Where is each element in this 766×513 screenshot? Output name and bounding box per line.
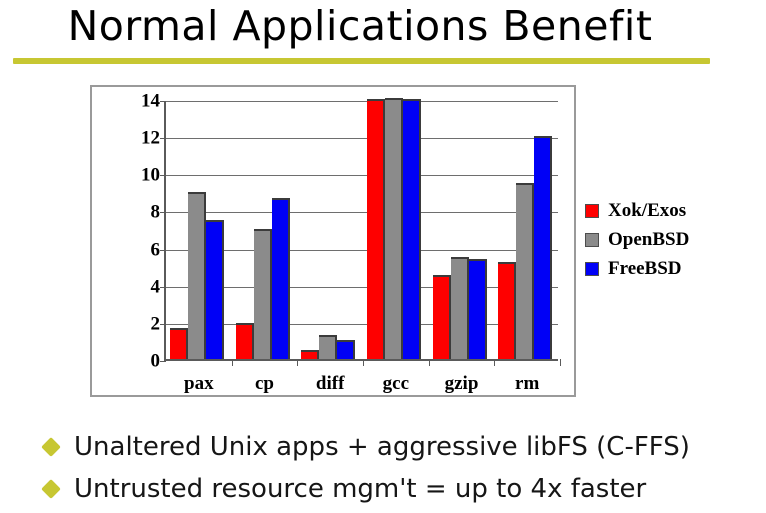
gridline — [166, 175, 558, 176]
y-axis-tick-mark — [160, 175, 166, 176]
x-axis-label-rm: rm — [515, 373, 539, 395]
bullet-list: Unaltered Unix apps + aggressive libFS (… — [44, 426, 764, 510]
y-axis-tick-label: 6 — [151, 240, 161, 259]
bar-gzip-openbsd — [451, 257, 469, 359]
bar-pax-openbsd — [188, 192, 206, 359]
legend-swatch-icon — [585, 262, 599, 276]
gridline — [166, 138, 558, 139]
bar-gzip-xok-exos — [433, 275, 451, 360]
bar-pax-freebsd — [206, 220, 224, 359]
page-title: Normal Applications Benefit — [0, 2, 720, 50]
x-axis-label-cp: cp — [255, 373, 274, 395]
legend-item-xok-exos: Xok/Exos — [585, 196, 689, 225]
bar-rm-xok-exos — [498, 262, 516, 359]
title-underline-rule — [13, 58, 710, 64]
y-axis-tick-mark — [160, 138, 166, 139]
y-axis-tick-label: 12 — [141, 129, 160, 148]
y-axis-tick-mark — [160, 101, 166, 102]
chart-legend: Xok/ExosOpenBSDFreeBSD — [585, 196, 689, 283]
bar-rm-openbsd — [516, 183, 534, 359]
x-axis-tick-mark — [560, 359, 561, 366]
diamond-bullet-icon — [41, 479, 61, 499]
y-axis-tick-mark — [160, 361, 166, 362]
gridline — [166, 250, 558, 251]
y-axis-tick-label: 0 — [151, 352, 161, 371]
bullet-text: Unaltered Unix apps + aggressive libFS (… — [74, 432, 690, 462]
gridline — [166, 101, 558, 102]
y-axis-tick-label: 4 — [151, 277, 161, 296]
y-axis-tick-label: 8 — [151, 203, 161, 222]
legend-label: Xok/Exos — [608, 200, 686, 222]
y-axis-tick-mark — [160, 250, 166, 251]
y-axis-tick-label: 14 — [141, 92, 160, 111]
legend-swatch-icon — [585, 233, 599, 247]
bullet-item-2: Untrusted resource mgm't = up to 4x fast… — [44, 468, 764, 510]
x-axis-tick-mark — [232, 359, 233, 366]
y-axis-tick-mark — [160, 324, 166, 325]
y-axis-tick-mark — [160, 287, 166, 288]
bar-rm-freebsd — [534, 136, 552, 359]
bar-cp-xok-exos — [236, 323, 254, 359]
bar-gcc-openbsd — [385, 98, 403, 359]
x-axis-label-gzip: gzip — [445, 373, 479, 395]
gridline — [166, 212, 558, 213]
bullet-item-1: Unaltered Unix apps + aggressive libFS (… — [44, 426, 764, 468]
legend-swatch-icon — [585, 204, 599, 218]
bar-gzip-freebsd — [469, 259, 487, 359]
y-axis-tick-mark — [160, 212, 166, 213]
bar-cp-freebsd — [272, 198, 290, 359]
x-axis-label-gcc: gcc — [383, 373, 409, 395]
bar-pax-xok-exos — [170, 328, 188, 359]
bar-gcc-xok-exos — [367, 99, 385, 359]
bullet-text: Untrusted resource mgm't = up to 4x fast… — [74, 474, 646, 504]
x-axis-tick-mark — [363, 359, 364, 366]
legend-item-freebsd: FreeBSD — [585, 254, 689, 283]
legend-label: OpenBSD — [608, 229, 689, 251]
legend-label: FreeBSD — [608, 258, 682, 280]
x-axis-tick-mark — [297, 359, 298, 366]
bar-cp-openbsd — [254, 229, 272, 359]
x-axis-tick-mark — [494, 359, 495, 366]
legend-item-openbsd: OpenBSD — [585, 225, 689, 254]
x-axis-label-diff: diff — [316, 373, 345, 395]
plot-area: 02468101214paxcpdiffgccgziprm — [164, 101, 558, 361]
bar-diff-xok-exos — [301, 350, 319, 359]
y-axis-tick-label: 10 — [141, 166, 160, 185]
bar-diff-freebsd — [337, 340, 355, 360]
x-axis-tick-mark — [429, 359, 430, 366]
y-axis-tick-label: 2 — [151, 314, 161, 333]
x-axis-label-pax: pax — [184, 373, 214, 395]
bar-chart: 02468101214paxcpdiffgccgziprm — [90, 85, 576, 397]
bar-diff-openbsd — [319, 335, 337, 359]
bar-gcc-freebsd — [403, 99, 421, 359]
diamond-bullet-icon — [41, 437, 61, 457]
